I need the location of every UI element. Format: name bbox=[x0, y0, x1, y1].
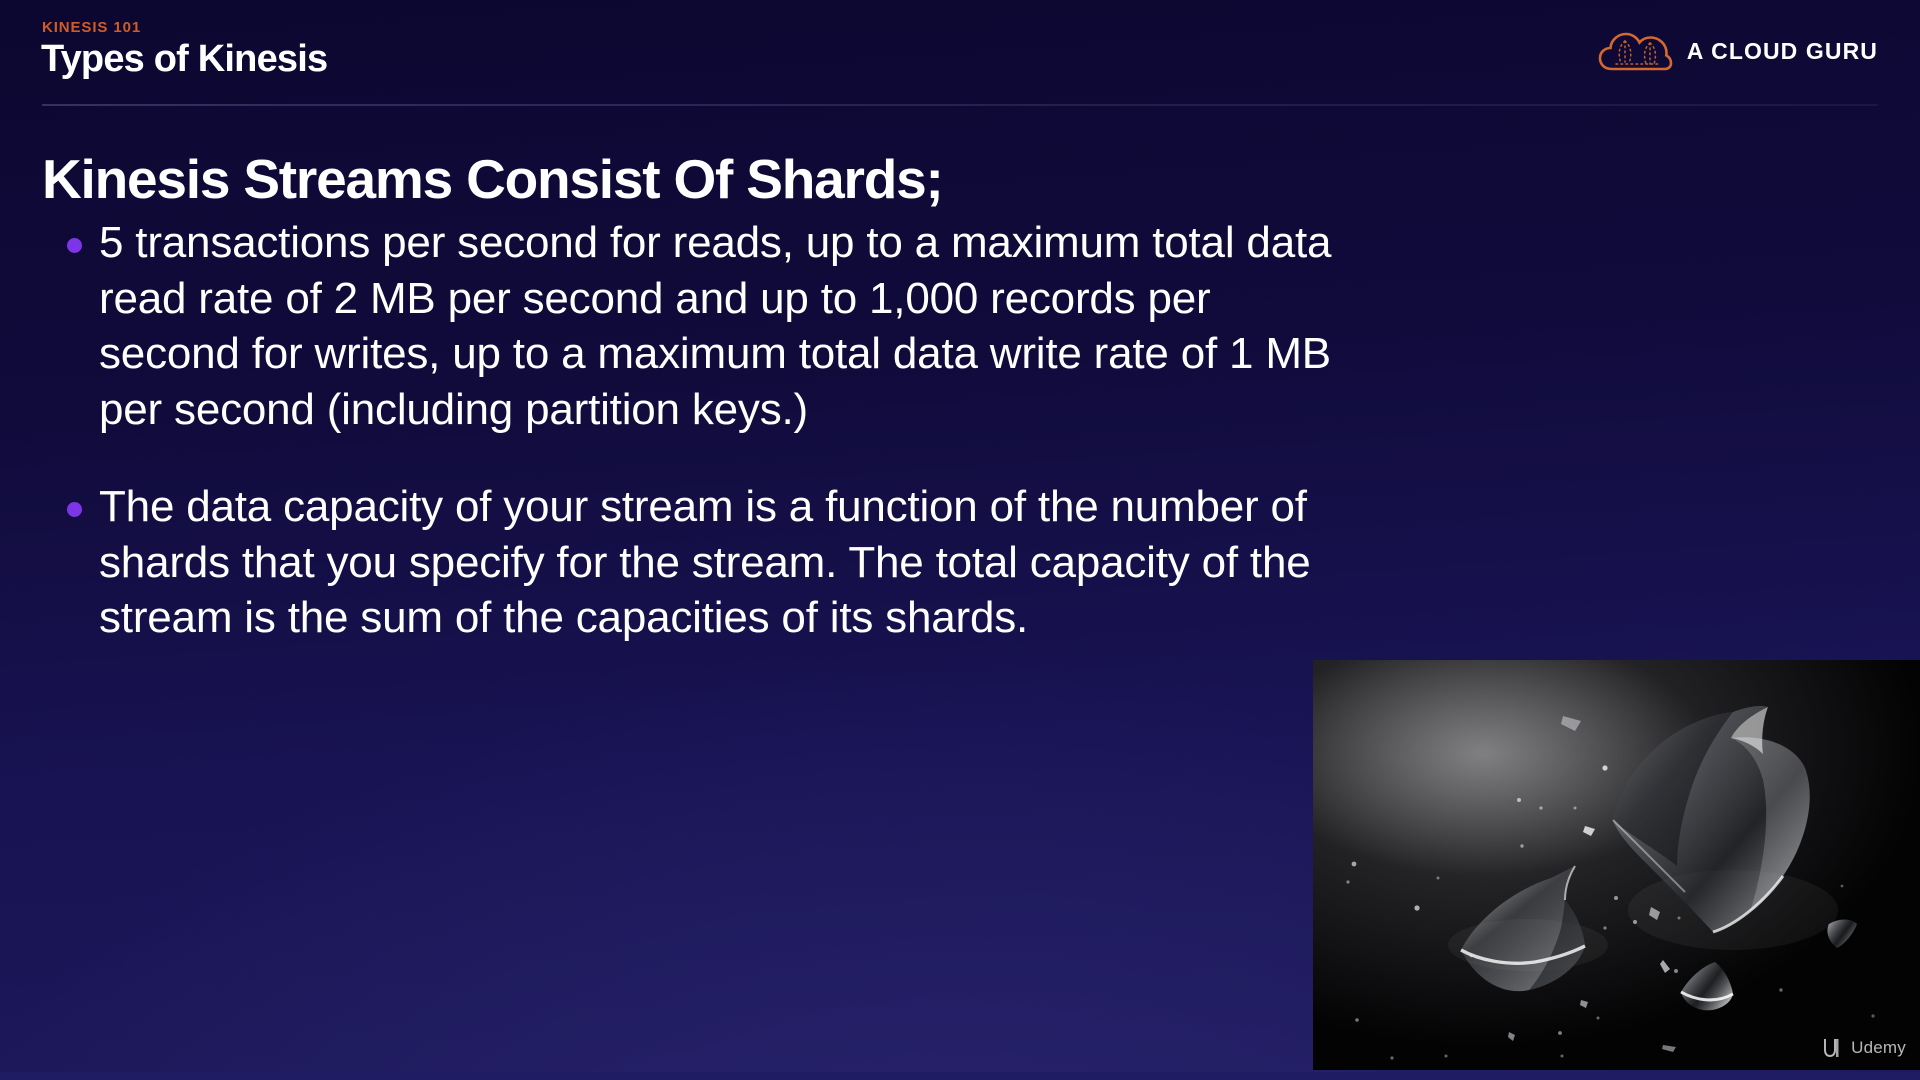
bullet-list: 5 transactions per second for reads, up … bbox=[42, 215, 1352, 645]
list-item-text: The data capacity of your stream is a fu… bbox=[99, 482, 1310, 642]
content-heading: Kinesis Streams Consist Of Shards; bbox=[42, 150, 1352, 209]
cloud-icon bbox=[1598, 28, 1673, 74]
slide-header: KINESIS 101 Types of Kinesis bbox=[0, 0, 1920, 105]
page-title: Types of Kinesis bbox=[41, 38, 327, 81]
list-item-text: 5 transactions per second for reads, up … bbox=[99, 218, 1331, 433]
slide-content: Kinesis Streams Consist Of Shards; 5 tra… bbox=[42, 150, 1352, 645]
udemy-logo-icon bbox=[1819, 1036, 1845, 1060]
bullet-dot-icon bbox=[67, 238, 82, 253]
list-item: The data capacity of your stream is a fu… bbox=[42, 479, 1352, 645]
udemy-watermark-label: Udemy bbox=[1851, 1038, 1906, 1058]
brand-name-label: A CLOUD GURU bbox=[1687, 38, 1878, 65]
list-item: 5 transactions per second for reads, up … bbox=[42, 215, 1352, 437]
course-eyebrow-label: KINESIS 101 bbox=[42, 19, 141, 36]
brand-logo: A CLOUD GURU bbox=[1598, 28, 1878, 74]
bottom-accent-strip bbox=[0, 1072, 1920, 1080]
slide: KINESIS 101 Types of Kinesis bbox=[0, 0, 1920, 1080]
glass-shards-illustration bbox=[1313, 660, 1920, 1070]
broken-glass-photo: Udemy bbox=[1313, 660, 1920, 1070]
bullet-dot-icon bbox=[67, 502, 82, 517]
udemy-watermark: Udemy bbox=[1819, 1036, 1906, 1060]
header-divider bbox=[42, 104, 1878, 106]
